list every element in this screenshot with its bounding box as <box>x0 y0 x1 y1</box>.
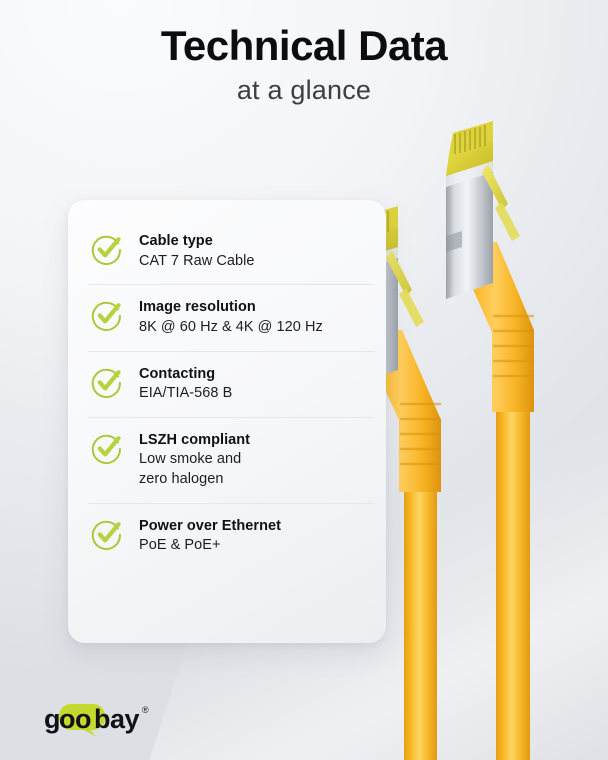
list-item-text: Contacting EIA/TIA-568 B <box>139 364 232 404</box>
list-item-text: Cable type CAT 7 Raw Cable <box>139 231 254 271</box>
check-circle-icon <box>90 431 124 465</box>
list-item-text: LSZH compliant Low smoke and zero haloge… <box>139 430 250 490</box>
spec-value: 8K @ 60 Hz & 4K @ 120 Hz <box>139 318 323 338</box>
list-item: Contacting EIA/TIA-568 B <box>68 351 386 417</box>
spec-value: CAT 7 Raw Cable <box>139 252 254 272</box>
list-item: Power over Ethernet PoE & PoE+ <box>68 503 386 569</box>
goobay-wordmark: g oo bay ® <box>44 698 162 736</box>
spec-value: PoE & PoE+ <box>139 536 281 556</box>
spec-label: Contacting <box>139 366 215 382</box>
page-title: Technical Data <box>0 22 608 69</box>
specifications-card: Cable type CAT 7 Raw Cable Image resolut… <box>68 200 386 643</box>
registered-mark: ® <box>142 705 149 715</box>
goobay-speech-bubble-logo: g oo bay ® <box>44 700 162 734</box>
svg-text:g: g <box>44 704 60 734</box>
check-circle-icon <box>90 517 124 551</box>
spec-value: EIA/TIA-568 B <box>139 384 232 404</box>
infographic-canvas: Technical Data at a glance Cable type CA… <box>0 0 608 760</box>
specifications-list: Cable type CAT 7 Raw Cable Image resolut… <box>68 218 386 569</box>
spec-label: Cable type <box>139 233 213 249</box>
check-circle-icon <box>90 232 124 266</box>
spec-label: Image resolution <box>139 299 256 315</box>
list-item-text: Power over Ethernet PoE & PoE+ <box>139 516 281 556</box>
svg-text:bay: bay <box>94 704 140 734</box>
header: Technical Data at a glance <box>0 22 608 106</box>
brand-logo: g oo bay ® <box>44 700 162 734</box>
list-item: Cable type CAT 7 Raw Cable <box>68 218 386 284</box>
list-item: Image resolution 8K @ 60 Hz & 4K @ 120 H… <box>68 284 386 350</box>
spec-label: Power over Ethernet <box>139 518 281 534</box>
list-item-text: Image resolution 8K @ 60 Hz & 4K @ 120 H… <box>139 297 323 337</box>
check-circle-icon <box>90 298 124 332</box>
spec-value: Low smoke and zero halogen <box>139 450 250 489</box>
svg-text:oo: oo <box>59 704 91 734</box>
list-item: LSZH compliant Low smoke and zero haloge… <box>68 417 386 503</box>
check-circle-icon <box>90 365 124 399</box>
spec-label: LSZH compliant <box>139 432 250 448</box>
page-subtitle: at a glance <box>0 75 608 106</box>
